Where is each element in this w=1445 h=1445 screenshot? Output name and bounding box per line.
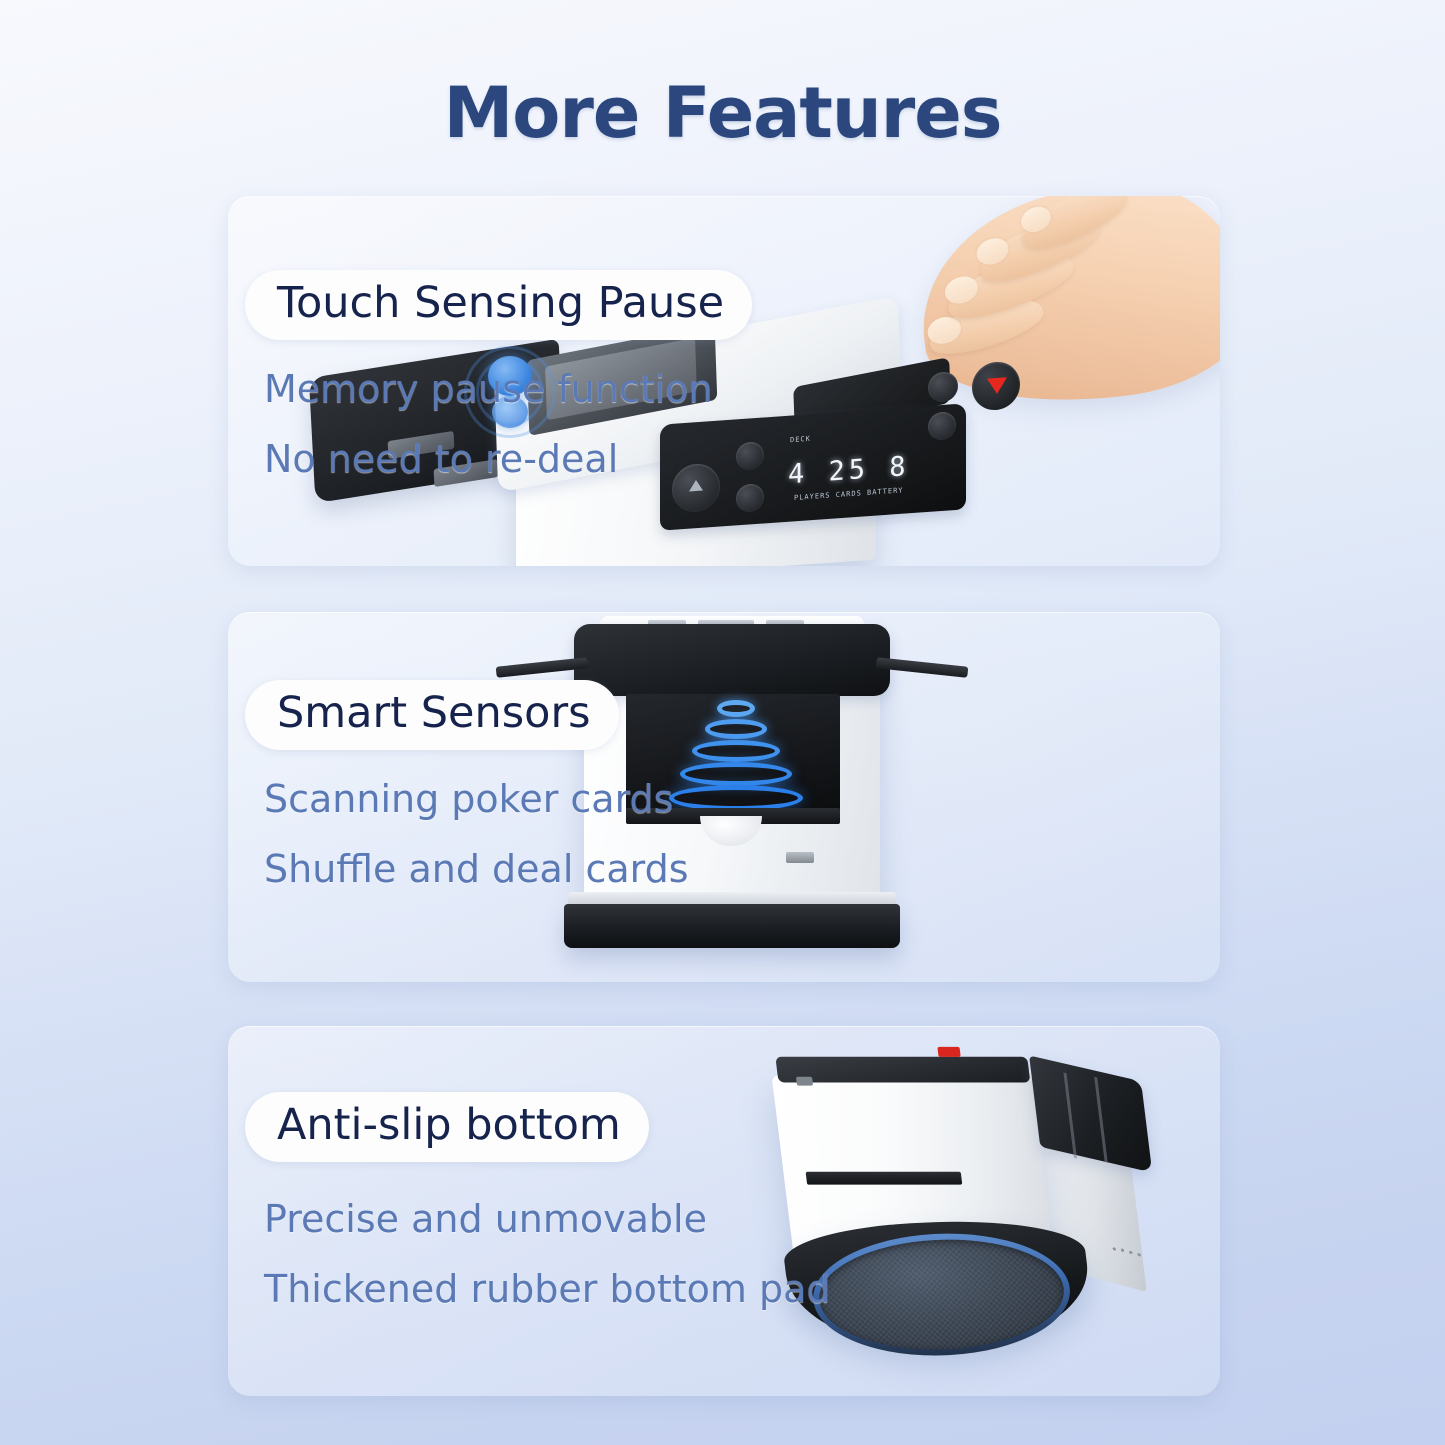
power-indicator [937, 1047, 960, 1057]
feature-bullet-list: Scanning poker cards Shuffle and deal ca… [264, 780, 748, 888]
feature-bullet: No need to re-deal [264, 440, 748, 478]
power-button[interactable] [928, 371, 958, 403]
device-top-strip [775, 1057, 1030, 1083]
usb-port [786, 852, 814, 863]
device-tilted [730, 1011, 1204, 1445]
card-text-block: Touch Sensing Pause Memory pause functio… [228, 196, 748, 510]
feature-title-badge: Anti-slip bottom [245, 1092, 649, 1162]
feature-bullet: Thickened rubber bottom pad [264, 1270, 748, 1308]
lcd-digits: 4 25 8 [788, 436, 914, 489]
feature-bullet: Scanning poker cards [264, 780, 748, 818]
feature-bullet: Precise and unmovable [264, 1200, 748, 1238]
feature-bullet-list: Memory pause function No need to re-deal [264, 370, 748, 478]
feature-title-badge: Smart Sensors [245, 680, 619, 750]
lcd-display: DECK 4 25 8 PLAYERS CARDS BATTERY [788, 428, 914, 499]
feature-title-badge: Touch Sensing Pause [245, 270, 752, 340]
card-text-block: Smart Sensors Scanning poker cards Shuff… [228, 612, 748, 920]
card-text-block: Anti-slip bottom Precise and unmovable T… [228, 1026, 748, 1340]
infographic-page: More Features DECK [0, 0, 1445, 1445]
feature-card-touch-sensing-pause: DECK 4 25 8 PLAYERS CARDS BATTERY Touch … [228, 196, 1220, 566]
card-output-slot [806, 1172, 963, 1185]
top-button [796, 1077, 813, 1086]
feature-bullet: Shuffle and deal cards [264, 850, 748, 888]
feature-card-anti-slip-bottom: Anti-slip bottom Precise and unmovable T… [228, 1026, 1220, 1396]
feature-card-smart-sensors: Smart Sensors Scanning poker cards Shuff… [228, 612, 1220, 982]
feature-bullet: Memory pause function [264, 370, 748, 408]
page-title: More Features [0, 72, 1445, 154]
feature-bullet-list: Precise and unmovable Thickened rubber b… [264, 1200, 748, 1308]
